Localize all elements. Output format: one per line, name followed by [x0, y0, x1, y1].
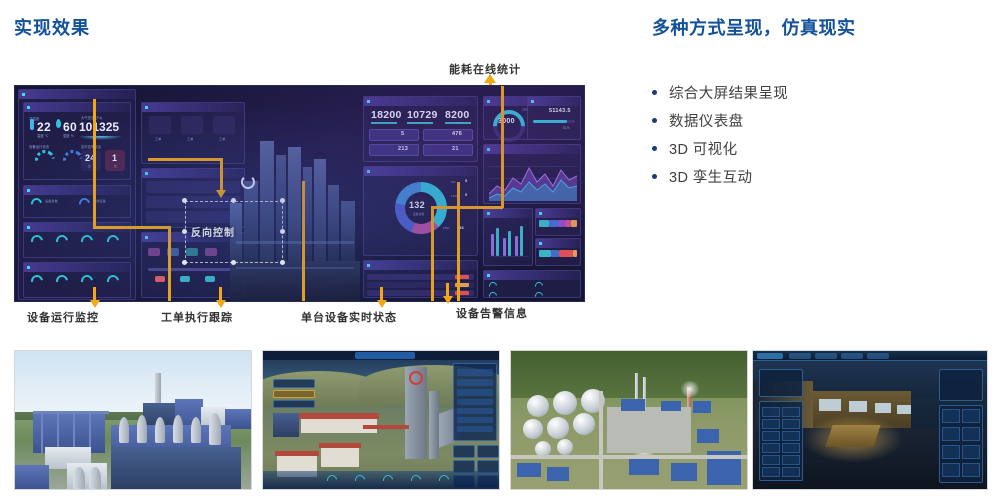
panel-title — [24, 186, 130, 195]
device-status-list-card — [483, 270, 581, 298]
feature-list: 综合大屏结果呈现 数据仪表盘 3D 可视化 3D 孪生互动 — [652, 78, 992, 190]
panel-title — [364, 261, 477, 270]
kpi-value-3: 8200 — [445, 109, 470, 121]
panel-title — [484, 271, 580, 280]
temperature-value: 22 — [37, 120, 51, 134]
callout-arrow-stem-4 — [446, 283, 449, 297]
order-tile-label-1: 工单 — [155, 137, 161, 141]
connector-left-horizontal — [93, 226, 171, 229]
kpi-underline — [445, 122, 471, 124]
panel-title — [19, 90, 135, 99]
panel-title — [24, 103, 130, 112]
bullet-dot-icon — [652, 118, 657, 123]
energy-pct: 81% — [563, 126, 570, 130]
order-tile-label-3: 工单 — [219, 137, 225, 141]
page-title-left: 实现效果 — [14, 14, 90, 40]
thumbnail-3d-aerial-refinery[interactable] — [510, 350, 748, 490]
device-status-label: 设备运行状态 — [29, 144, 49, 149]
callout-arrow-head-4 — [443, 296, 453, 304]
bullet-dot-icon — [652, 174, 657, 179]
selection-handle-ml[interactable] — [182, 229, 187, 234]
order-tile-3 — [213, 116, 235, 134]
panel-title — [24, 263, 130, 272]
list-item-label: 3D 孪生互动 — [669, 166, 752, 187]
reverse-control-label: 反向控制 — [191, 224, 235, 239]
kpi-underline — [407, 122, 433, 124]
kpi-chip-value-1: 5 — [401, 131, 404, 137]
thumbnail-3d-digital-twin[interactable] — [262, 350, 500, 490]
list-item: 数据仪表盘 — [652, 106, 992, 134]
kpi-chip-4 — [423, 144, 473, 156]
donut-seg-pct-1: 5% — [451, 180, 456, 184]
process-node-alert — [155, 276, 165, 282]
panel-title — [484, 145, 580, 154]
order-tile-1 — [149, 116, 171, 134]
nav-tab[interactable] — [867, 353, 889, 359]
bullet-dot-icon — [652, 146, 657, 151]
callout-arrow-head-3 — [377, 300, 387, 308]
connector-left-vertical — [93, 99, 96, 171]
selection-handle-br[interactable] — [280, 260, 285, 265]
connector-mid-horizontal — [148, 158, 223, 161]
list-item: 综合大屏结果呈现 — [652, 78, 992, 106]
donut-center-label: 设备总数 — [413, 212, 424, 216]
thumbnail-3d-warehouse-interior[interactable] — [752, 350, 988, 490]
panel-title — [142, 169, 244, 178]
connector-mid-vertical — [220, 158, 223, 192]
callout-arrow-stem-3 — [380, 287, 383, 301]
kpi-chip-2 — [423, 129, 473, 141]
callout-label-4: 设备告警信息 — [456, 305, 528, 321]
energy-value: 51143.5 — [549, 108, 571, 114]
selection-handle-tl[interactable] — [182, 198, 187, 203]
connector-right-vertical — [431, 206, 434, 302]
kpi-underline — [371, 122, 397, 124]
callout-arrow-stem-1 — [93, 287, 96, 301]
refresh-icon[interactable] — [241, 175, 255, 189]
panel-title — [142, 103, 244, 112]
kpi-value-1: 18200 — [371, 109, 402, 121]
humidity-value: 60 — [63, 120, 77, 134]
logo-badge — [757, 353, 783, 359]
kpi-value-2: 10729 — [407, 109, 438, 121]
selection-handle-bl[interactable] — [182, 260, 187, 265]
page-title-right: 多种方式呈现，仿真现实 — [652, 14, 856, 40]
kpi-chip-value-4: 21 — [452, 146, 459, 152]
list-item: 3D 孪生互动 — [652, 162, 992, 190]
nav-tab[interactable] — [815, 353, 837, 359]
panel-title — [484, 209, 532, 218]
list-item-label: 3D 可视化 — [669, 138, 737, 159]
list-item-label: 数据仪表盘 — [669, 110, 744, 131]
connector-left-down — [168, 226, 171, 302]
twin-title-bar — [355, 352, 415, 359]
donut-legend-1: 5 — [465, 178, 468, 183]
list-item: 3D 可视化 — [652, 134, 992, 162]
donut-legend-2: 9 — [465, 192, 468, 197]
kpi-chip-1 — [369, 129, 419, 141]
energy-progress-fill — [533, 120, 567, 123]
panel-title — [536, 209, 580, 218]
selection-handle-mr[interactable] — [280, 229, 285, 234]
kpi-chip-3 — [369, 144, 419, 156]
pressure-glow — [78, 136, 123, 140]
count-unit-1: 台 — [88, 164, 91, 168]
panel-title — [536, 239, 580, 248]
droplet-icon — [56, 119, 61, 128]
connector-top-vertical — [501, 86, 504, 208]
thumbnail-3d-plant-exterior[interactable] — [14, 350, 252, 490]
kpi-chip-value-2: 476 — [452, 131, 462, 137]
donut-center-value: 132 — [409, 200, 425, 210]
process-node — [180, 276, 190, 282]
twin-bottom-toolbar[interactable] — [263, 471, 499, 489]
nav-tab[interactable] — [841, 353, 863, 359]
count-value-2: 1 — [112, 153, 117, 163]
panel-title — [528, 97, 580, 106]
pressure-value: 101325 — [79, 120, 119, 134]
connector-right-horizontal — [431, 206, 503, 209]
list-item-label: 综合大屏结果呈现 — [669, 82, 788, 103]
process-node — [205, 276, 215, 282]
selection-handle-tc[interactable] — [231, 198, 236, 203]
main-dashboard-screenshot: 温湿度 22 60 温度 ℃ 湿度 % 大气压强 (Pa) 101325 设备运… — [14, 85, 585, 302]
kpi-chip-value-3: 213 — [398, 146, 408, 152]
panel-title — [364, 167, 477, 176]
donut-seg-pct-3: 25% — [443, 226, 450, 230]
process-node — [148, 248, 160, 256]
thermometer-icon — [30, 119, 34, 130]
temperature-unit: 温度 ℃ — [37, 133, 49, 138]
callout-arrow-head-2 — [216, 300, 226, 308]
connector-center-vertical — [302, 181, 305, 302]
selection-handle-bc[interactable] — [231, 260, 236, 265]
humidity-unit: 湿度 % — [63, 133, 74, 138]
process-connector — [148, 268, 238, 271]
callout-label-1: 设备运行监控 — [27, 309, 99, 325]
order-tile-label-2: 工单 — [187, 137, 193, 141]
callout-arrow-stem-2 — [219, 287, 222, 301]
connector-mid-arrow — [216, 190, 226, 198]
slide-root: 实现效果 多种方式呈现，仿真现实 综合大屏结果呈现 数据仪表盘 3D 可视化 3… — [0, 0, 1000, 498]
ramp-platform — [825, 425, 880, 447]
alarm-count-label: 实时告警信息 — [81, 144, 101, 149]
selection-handle-tr[interactable] — [280, 198, 285, 203]
count-unit-2: 台 — [114, 164, 117, 168]
panel-title — [364, 97, 477, 106]
alert-marker-icon — [409, 371, 423, 385]
bullet-dot-icon — [652, 90, 657, 95]
order-tile-2 — [181, 116, 203, 134]
energy-card — [527, 96, 581, 140]
mini-gauge-label-1: 设备总数 — [45, 199, 58, 203]
connector-alarm-vertical — [457, 182, 460, 302]
callout-label-2: 工单执行跟踪 — [161, 309, 233, 325]
callout-label-3: 单台设备实时状态 — [301, 309, 397, 325]
callout-arrow-head-1 — [90, 300, 100, 308]
nav-tab[interactable] — [789, 353, 811, 359]
connector-left-vertical-2 — [93, 168, 96, 226]
